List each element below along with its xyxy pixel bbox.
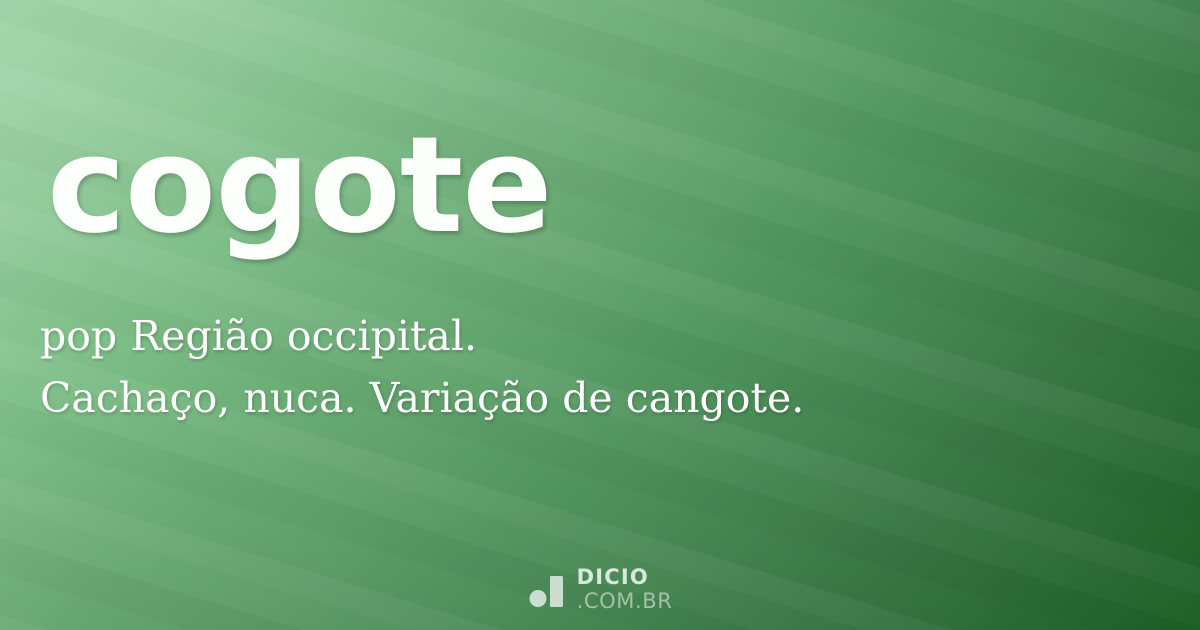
site-logo: DICIO .COM.BR <box>0 567 1200 612</box>
definition-block: pop Região occipital. Cachaço, nuca. Var… <box>40 305 1150 429</box>
logo-tld: .COM.BR <box>577 591 673 612</box>
card-content: cogote pop Região occipital. Cachaço, nu… <box>0 0 1200 630</box>
definition-line: pop Região occipital. <box>40 305 1150 367</box>
dictionary-share-card: cogote pop Região occipital. Cachaço, nu… <box>0 0 1200 630</box>
logo-mark-icon <box>528 573 564 607</box>
logo-wordmark: DICIO .COM.BR <box>577 567 673 612</box>
logo-name: DICIO <box>577 567 649 588</box>
logo-bar-icon <box>550 576 563 607</box>
page-title: cogote <box>47 112 552 261</box>
logo-circle-icon <box>529 590 546 607</box>
definition-line: Cachaço, nuca. Variação de cangote. <box>40 367 1150 429</box>
